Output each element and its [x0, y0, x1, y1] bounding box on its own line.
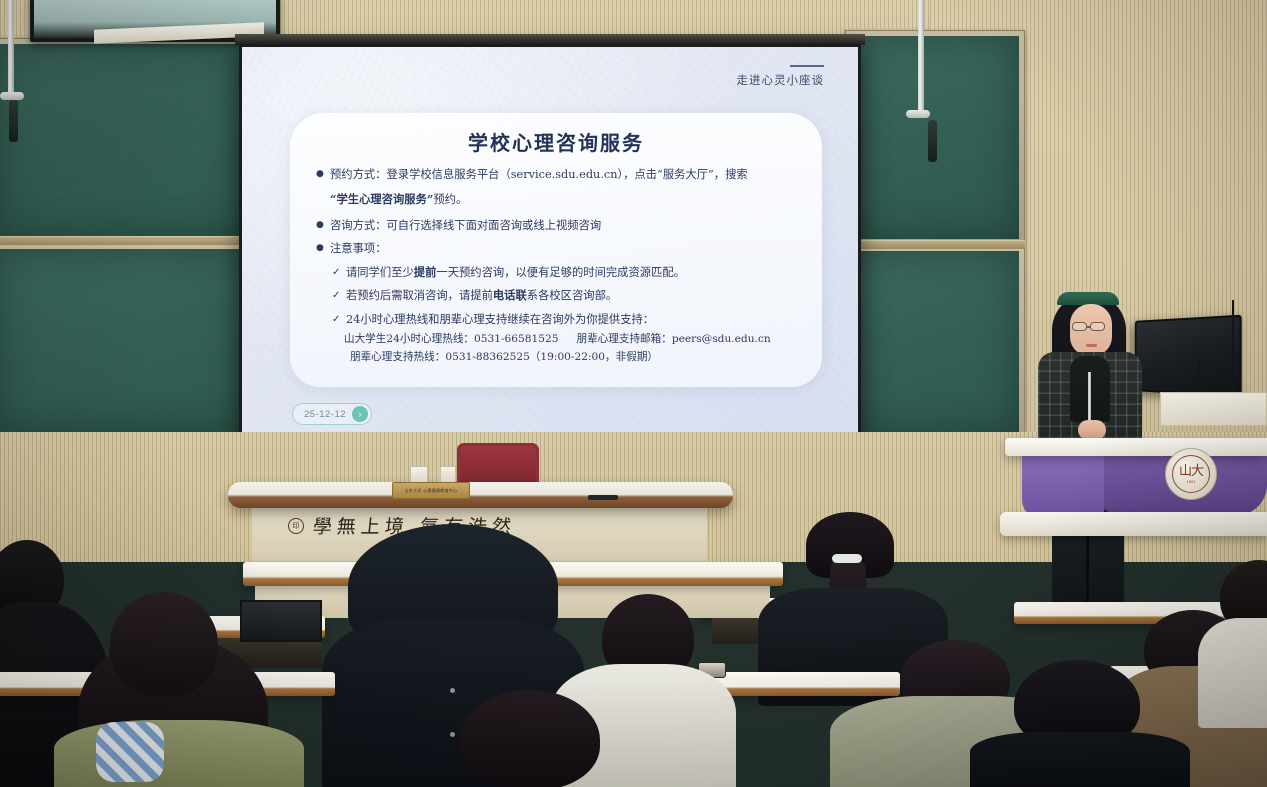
checkmark-icon: ✓ [332, 311, 346, 329]
slide-date-pill[interactable]: 25-12-12 › [292, 403, 372, 425]
chalkboard-left-lower [0, 243, 260, 438]
teacher-desk [228, 482, 733, 508]
microphone-clip-right [906, 110, 930, 118]
check-strong: 提前 [414, 265, 437, 279]
patterned-scrunchie [96, 722, 164, 782]
slide-bullet: ● 咨询方式：可自行选择线下面对面咨询或线上视频咨询 [316, 217, 796, 235]
hanging-microphone-left [9, 100, 18, 142]
bullet-continuation: “学生心理咨询服务”预约。 [316, 190, 796, 209]
slide-header-text: 走进心灵小座谈 [737, 75, 825, 87]
audience-member [966, 660, 1196, 787]
desk-box [410, 466, 428, 483]
person-body [54, 720, 304, 787]
bullet-text: 咨询方式：可自行选择线下面对面咨询或线上视频咨询 [330, 217, 796, 235]
checkmark-icon: ✓ [332, 287, 346, 305]
presenter-hands [1078, 420, 1106, 440]
contact-label-b: 朋辈心理支持邮箱： [576, 333, 671, 345]
check-pre: 若预约后需取消咨询，请提前 [346, 289, 493, 302]
checkmark-icon: ✓ [332, 264, 346, 282]
chalkboard-right-lower [845, 245, 1025, 440]
slide-header-rule [790, 65, 824, 67]
podium-shelf [1160, 392, 1267, 426]
desk-remote [588, 495, 618, 500]
podium-front-panel [1022, 452, 1104, 518]
check-text: 请同学们至少提前一天预约咨询，以便有足够的时间完成资源匹配。 [346, 264, 796, 282]
presentation-slide: 走进心灵小座谈 学校心理咨询服务 ● 预约方式：登录学校信息服务平台（servi… [242, 47, 858, 439]
check-strong: 电话联 [493, 288, 527, 302]
bullet-dot-icon: ● [316, 217, 330, 235]
microphone-clip-left [0, 92, 24, 100]
bullet-strong-text: “学生心理咨询服务” [330, 192, 433, 206]
glasses-lens-left [1072, 322, 1087, 331]
contact-label-a: 朋辈心理支持热线： [350, 351, 445, 363]
contact-value-b: peers@sdu.edu.cn [672, 333, 771, 345]
bullet-text: 预约方式：登录学校信息服务平台（service.sdu.edu.cn），点击“服… [330, 166, 796, 184]
bullet-rest-text: 预约。 [433, 193, 467, 206]
person-head [460, 690, 600, 787]
emblem-inner: 山大 1901 [1172, 455, 1210, 493]
contact-value-a: 0531-66581525 [474, 333, 558, 345]
projection-screen: 走进心灵小座谈 学校心理咨询服务 ● 预约方式：登录学校信息服务平台（servi… [239, 44, 861, 442]
emblem-mark: 山大 [1179, 464, 1203, 477]
slide-header: 走进心灵小座谈 [737, 65, 825, 88]
slide-title: 学校心理咨询服务 [290, 127, 822, 156]
hair-tie [832, 554, 862, 563]
podium-top-surface [1005, 438, 1267, 456]
contact-value-a: 0531-88362525（19:00-22:00，非假期） [445, 351, 658, 363]
chalkboard-left-upper [0, 38, 260, 243]
slide-body: ● 预约方式：登录学校信息服务平台（service.sdu.edu.cn），点击… [290, 156, 822, 366]
presenter-monitor [1135, 315, 1242, 398]
microphone-pole-left [8, 0, 14, 96]
desk-nameplate: 山东大学 心理健康教育中心 [392, 482, 470, 499]
person-body [970, 732, 1190, 787]
audience-member [40, 592, 305, 787]
contact-line: 朋辈心理支持热线：0531-88362525（19:00-22:00，非假期） [316, 348, 796, 366]
microphone-pole-right [918, 0, 924, 112]
slide-bullet: ● 注意事项： [316, 240, 796, 258]
university-emblem: 山大 1901 [1165, 448, 1217, 500]
check-text: 若预约后需取消咨询，请提前电话联系各校区咨询部。 [346, 287, 796, 305]
bullet-dot-icon: ● [316, 166, 330, 184]
seal-icon: 印 [288, 518, 304, 534]
desk-box [440, 466, 456, 483]
slide-check-item: ✓ 若预约后需取消咨询，请提前电话联系各校区咨询部。 [332, 287, 796, 305]
check-text: 24小时心理热线和朋辈心理支持继续在咨询外为你提供支持： [346, 311, 796, 329]
hanging-microphone-right [928, 120, 937, 162]
lecture-hall-photo: 走进心灵小座谈 学校心理咨询服务 ● 预约方式：登录学校信息服务平台（servi… [0, 0, 1267, 787]
glasses-bridge [1087, 326, 1090, 328]
audience-member [390, 690, 660, 787]
next-slide-icon[interactable]: › [352, 406, 368, 422]
podium-lower-shelf [1000, 512, 1267, 536]
check-post: 系各校区咨询部。 [527, 289, 617, 302]
slide-content-card: 学校心理咨询服务 ● 预约方式：登录学校信息服务平台（service.sdu.e… [290, 113, 822, 387]
slide-bullet: ● 预约方式：登录学校信息服务平台（service.sdu.edu.cn），点击… [316, 166, 796, 184]
chalkboard-surface [851, 251, 1019, 434]
check-pre: 请同学们至少 [346, 266, 414, 279]
check-post: 一天预约咨询，以便有足够的时间完成资源匹配。 [436, 266, 685, 279]
audience-member [1214, 560, 1267, 720]
contact-label-a: 山大学生24小时心理热线： [344, 333, 474, 345]
chalkboard-ledge-right [845, 240, 1025, 249]
bullet-dot-icon: ● [316, 240, 330, 258]
slide-check-item: ✓ 请同学们至少提前一天预约咨询，以便有足够的时间完成资源匹配。 [332, 264, 796, 282]
person-body [1198, 618, 1267, 728]
chalkboard-ledge-left [0, 236, 260, 245]
contact-line: 山大学生24小时心理热线：0531-66581525朋辈心理支持邮箱：peers… [316, 330, 796, 348]
chalkboard-surface [0, 44, 254, 237]
emblem-year: 1901 [1187, 479, 1196, 484]
glasses-lens-right [1090, 322, 1105, 331]
chalkboard-surface [0, 249, 254, 432]
bullet-text: 注意事项： [330, 240, 796, 258]
desk-nameplate-text: 山东大学 心理健康教育中心 [404, 488, 457, 494]
presenter-mouth [1086, 344, 1097, 347]
slide-check-item: ✓ 24小时心理热线和朋辈心理支持继续在咨询外为你提供支持： [332, 311, 796, 329]
slide-date-text: 25-12-12 [304, 409, 346, 420]
person-head [110, 592, 218, 696]
